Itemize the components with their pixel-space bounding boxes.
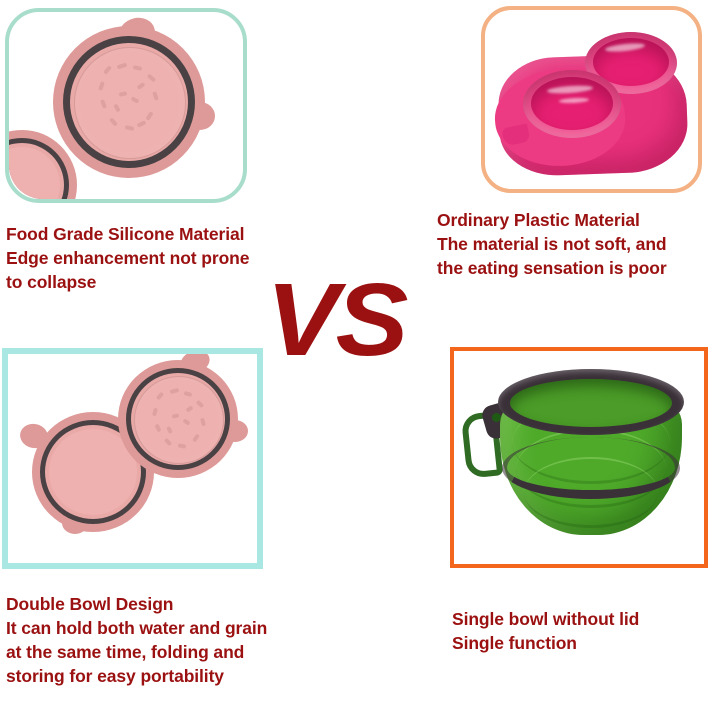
texture-dash: [178, 443, 187, 448]
texture-dash: [196, 400, 205, 408]
texture-dash: [131, 96, 140, 103]
caption-bottom-right: Single bowl without lid Single function: [452, 607, 720, 655]
texture-dash: [200, 418, 206, 427]
texture-dash: [137, 120, 147, 128]
texture-dash: [152, 408, 158, 417]
double-silicone-bowl-photo: [8, 354, 257, 563]
texture-dash: [125, 125, 135, 131]
texture-dash: [152, 91, 159, 101]
bowl-lower-lip: [502, 437, 680, 499]
texture-dash: [147, 74, 156, 83]
texture-dash: [184, 391, 193, 397]
texture-dash: [133, 65, 143, 71]
green-collapsible-bowl-photo: [454, 351, 704, 564]
double-bowl-illustration: [8, 354, 257, 563]
texture-dash: [98, 81, 105, 91]
texture-dash: [182, 418, 190, 425]
texture-dash: [109, 117, 118, 126]
texture-dash: [100, 99, 107, 109]
versus-badge: VS: [266, 268, 405, 371]
texture-dash: [164, 438, 172, 447]
silicone-lid-photo: [9, 12, 243, 199]
comparison-infographic: Food Grade Silicone Material Edge enhanc…: [0, 0, 720, 720]
texture-dash: [170, 388, 180, 394]
primary-lid-center: [79, 52, 179, 152]
texture-dash: [145, 111, 153, 121]
texture-dash: [185, 405, 193, 412]
panel-bottom-right-frame: [450, 347, 708, 568]
texture-dash: [172, 413, 180, 418]
texture-dash: [192, 434, 200, 443]
caption-top-right: Ordinary Plastic Material The material i…: [437, 208, 720, 280]
panel-bottom-left-frame: [2, 348, 263, 569]
texture-dash: [156, 392, 164, 401]
texture-dash: [166, 426, 173, 434]
texture-dash: [103, 65, 112, 74]
texture-dash: [119, 91, 128, 96]
bowl-interior: [510, 379, 672, 427]
right-bowl-center: [138, 380, 218, 458]
texture-dash: [113, 104, 120, 113]
silicone-lid-illustration: [9, 12, 243, 199]
texture-dash: [117, 63, 128, 70]
texture-dash: [155, 424, 162, 433]
plastic-double-bowl-photo: [485, 10, 698, 189]
green-bowl-illustration: [454, 351, 704, 564]
panel-top-left-frame: [5, 8, 247, 203]
panel-top-right-frame: [481, 6, 702, 193]
caption-bottom-left: Double Bowl Design It can hold both wate…: [6, 592, 406, 688]
texture-dash: [137, 82, 146, 90]
